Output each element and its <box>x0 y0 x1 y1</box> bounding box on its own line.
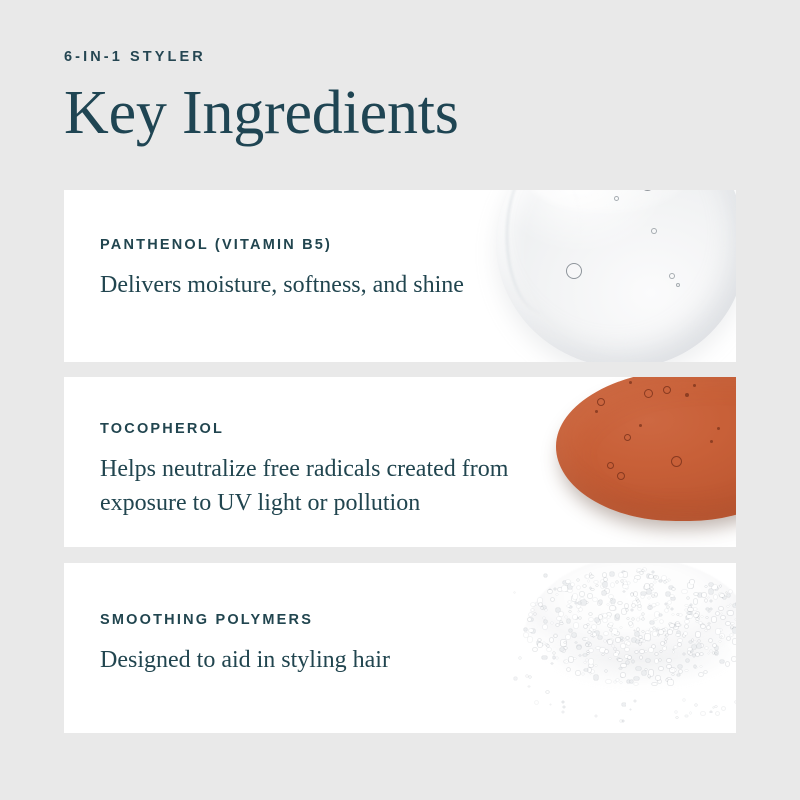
powder-grain <box>547 648 551 651</box>
oil-bubble <box>639 424 642 427</box>
powder-grain <box>604 640 606 642</box>
powder-grain <box>547 645 549 647</box>
powder-grain <box>610 572 614 576</box>
powder-grain <box>634 592 638 596</box>
powder-grain <box>551 598 554 601</box>
powder-grain <box>692 639 694 641</box>
powder-grain <box>589 659 593 664</box>
powder-grain <box>563 706 565 708</box>
powder-grain <box>720 594 724 597</box>
powder-grain <box>716 612 719 615</box>
powder-grain <box>559 612 563 616</box>
powder-grain <box>656 676 660 681</box>
powder-grain <box>577 586 580 589</box>
powder-grain <box>694 593 698 596</box>
powder-grain <box>686 659 689 662</box>
powder-grain <box>584 662 586 663</box>
powder-grain <box>604 578 607 581</box>
powder-grain <box>647 589 651 594</box>
powder-grain <box>701 625 705 628</box>
powder-grain <box>641 592 646 595</box>
powder-grain <box>609 595 613 598</box>
powder-grain <box>562 711 564 713</box>
powder-grain <box>699 622 702 624</box>
powder-grain <box>677 674 680 677</box>
card-text-block: TOCOPHEROL Helps neutralize free radical… <box>100 422 508 520</box>
ingredient-description-line: exposure to UV light or pollution <box>100 486 508 520</box>
powder-grain <box>655 659 658 663</box>
powder-grain <box>595 665 597 666</box>
powder-grain <box>659 630 663 633</box>
powder-grain <box>688 608 692 611</box>
powder-grain <box>652 571 654 573</box>
powder-grain <box>690 712 691 713</box>
ingredient-card-tocopherol: TOCOPHEROL Helps neutralize free radical… <box>64 377 736 547</box>
powder-grain <box>538 598 543 603</box>
powder-grain <box>695 704 697 706</box>
powder-grain <box>579 608 583 611</box>
powder-grain <box>569 657 574 662</box>
powder-grain <box>733 639 737 643</box>
powder-grain <box>567 619 571 623</box>
powder-grain <box>672 588 676 590</box>
powder-grain <box>678 643 681 646</box>
powder-grain <box>588 668 592 672</box>
powder-grain <box>584 625 587 627</box>
powder-grain <box>562 586 567 591</box>
powder-grain <box>696 621 698 622</box>
powder-grain <box>649 575 653 578</box>
powder-grain <box>565 616 567 618</box>
powder-grain <box>663 647 667 650</box>
powder-grain <box>696 632 700 637</box>
powder-grain <box>544 574 547 577</box>
powder-grain <box>726 662 730 665</box>
powder-grain <box>720 660 725 663</box>
powder-grain <box>625 604 628 608</box>
gel-bubble <box>651 228 657 234</box>
powder-grain <box>650 584 652 586</box>
powder-grain <box>685 625 688 628</box>
oil-blob-shape <box>556 377 736 521</box>
powder-grain <box>626 661 629 665</box>
powder-grain <box>551 622 553 624</box>
powder-grain <box>574 623 578 628</box>
powder-grain <box>564 642 566 643</box>
powder-grain <box>645 651 647 652</box>
powder-grain <box>652 595 654 596</box>
powder-grain <box>524 628 528 631</box>
powder-grain <box>560 648 564 651</box>
powder-grain <box>577 646 581 649</box>
powder-grain <box>528 637 532 642</box>
powder-grain <box>577 579 579 581</box>
powder-grain <box>553 652 555 654</box>
powder-grain <box>668 630 672 634</box>
powder-grain <box>715 653 717 654</box>
powder-grain <box>727 594 730 598</box>
powder-grain <box>638 607 641 610</box>
powder-grain <box>727 637 731 641</box>
powder-grain <box>582 673 584 675</box>
powder-grain <box>548 590 552 593</box>
powder-grain <box>634 677 639 680</box>
powder-grain <box>620 627 622 628</box>
powder-grain <box>641 595 644 598</box>
powder-grain <box>556 594 558 596</box>
powder-grain <box>603 614 607 617</box>
powder-grain <box>587 653 589 655</box>
powder-grain <box>590 573 592 574</box>
powder-grain <box>696 653 699 656</box>
powder-grain <box>621 673 624 677</box>
powder-grain <box>698 640 700 642</box>
ingredient-card-smoothing-polymers: SMOOTHING POLYMERS Designed to aid in st… <box>64 563 736 733</box>
powder-grain <box>678 665 682 668</box>
powder-grain <box>716 629 721 634</box>
powder-grain <box>676 624 680 626</box>
powder-grain <box>579 655 581 656</box>
powder-grain <box>606 680 610 684</box>
powder-grain <box>599 600 602 604</box>
powder-grain <box>643 640 645 642</box>
gel-bubble <box>669 273 675 279</box>
powder-grain <box>687 612 691 615</box>
powder-grain <box>623 585 628 588</box>
powder-grain <box>696 618 699 620</box>
powder-grain <box>667 665 672 668</box>
powder-grain <box>543 642 545 644</box>
powder-grain <box>654 581 656 583</box>
powder-grain <box>678 639 682 642</box>
powder-grain <box>557 617 561 621</box>
powder-grain <box>715 706 717 708</box>
powder-grain <box>622 703 626 706</box>
powder-grain <box>655 593 658 596</box>
powder-grain <box>589 613 592 615</box>
powder-grain <box>526 675 528 677</box>
powder-grain <box>631 593 634 596</box>
powder-grain <box>616 614 620 618</box>
powder-grain <box>688 651 691 654</box>
powder-grain <box>634 700 636 702</box>
powder-grain <box>573 615 577 619</box>
gel-bubble <box>614 196 619 201</box>
powder-grain <box>664 581 666 583</box>
powder-grain <box>690 580 694 584</box>
powder-grain <box>646 659 650 662</box>
powder-grain <box>588 594 592 599</box>
powder-grain <box>655 653 658 656</box>
powder-grain <box>699 673 703 676</box>
powder-grain <box>514 677 518 680</box>
ingredient-description: Delivers moisture, softness, and shine <box>100 268 464 302</box>
powder-grain <box>636 667 641 670</box>
powder-grain <box>721 616 725 619</box>
powder-grain <box>616 638 620 642</box>
powder-grain <box>604 632 608 635</box>
powder-grain <box>622 720 625 723</box>
page-title: Key Ingredients <box>64 81 664 146</box>
powder-grain <box>626 588 628 589</box>
powder-grain <box>650 621 654 624</box>
powder-grain <box>603 582 607 587</box>
powder-grain <box>670 624 674 627</box>
powder-grain <box>566 635 570 638</box>
powder-grain <box>648 675 651 677</box>
powder-grain <box>594 675 598 680</box>
powder-grain <box>637 600 639 601</box>
powder-grain <box>714 595 718 599</box>
orange-oil-droplet-icon <box>556 377 736 521</box>
powder-grain <box>514 592 516 594</box>
powder-grain <box>625 648 629 651</box>
powder-grain <box>581 600 586 605</box>
powder-grain <box>592 625 596 629</box>
powder-grain <box>614 648 616 650</box>
oil-bubble <box>693 384 696 387</box>
powder-grain <box>578 602 581 604</box>
powder-grain <box>721 636 723 637</box>
powder-grain <box>568 601 571 604</box>
powder-grain <box>710 711 712 712</box>
powder-grain <box>634 683 638 686</box>
powder-grain <box>659 667 663 670</box>
powder-grain <box>589 649 593 652</box>
powder-grain <box>605 670 607 672</box>
powder-grain <box>541 607 543 609</box>
powder-grain <box>639 643 642 645</box>
powder-grain <box>713 644 717 647</box>
powder-grain <box>603 619 607 622</box>
powder-grain <box>528 618 532 621</box>
powder-grain <box>674 646 677 649</box>
powder-grain <box>621 580 623 582</box>
powder-grain <box>616 581 618 583</box>
powder-grain <box>656 603 660 605</box>
powder-grain <box>665 609 669 612</box>
powder-grain <box>630 709 632 711</box>
powder-grain <box>529 676 531 678</box>
powder-grain <box>719 607 723 610</box>
powder-grain <box>705 630 707 631</box>
powder-grain <box>598 636 602 640</box>
powder-grain <box>712 585 716 589</box>
powder-grain <box>593 598 597 601</box>
powder-grain <box>632 660 634 663</box>
powder-grain <box>584 669 588 672</box>
powder-grain <box>632 604 635 607</box>
powder-grain <box>627 642 630 645</box>
powder-grain <box>716 712 720 715</box>
powder-grain <box>722 707 726 710</box>
oil-bubble <box>644 389 653 398</box>
powder-grain <box>609 623 612 625</box>
powder-grain <box>735 701 736 703</box>
powder-grain <box>560 623 563 625</box>
powder-grain <box>588 580 590 582</box>
powder-grain <box>683 699 685 701</box>
powder-grain <box>589 664 593 668</box>
powder-grain <box>709 583 713 586</box>
powder-grain <box>687 615 691 619</box>
powder-grain <box>519 657 521 659</box>
powder-grain <box>640 650 644 653</box>
powder-grain <box>637 618 639 621</box>
powder-grain <box>676 717 678 718</box>
powder-grain <box>728 611 732 615</box>
powder-grain <box>545 609 547 611</box>
powder-grain <box>602 591 605 595</box>
powder-grain <box>652 683 657 686</box>
powder-grain <box>665 638 667 640</box>
powder-grain <box>645 669 647 670</box>
ingredient-description: Helps neutralize free radicals created f… <box>100 452 508 520</box>
powder-grain <box>542 656 546 659</box>
gel-bubble <box>676 283 680 287</box>
powder-grain <box>676 634 679 636</box>
powder-grain <box>667 659 671 663</box>
powder-grain <box>627 582 630 584</box>
powder-grain <box>694 641 696 643</box>
powder-grain <box>679 614 681 616</box>
powder-grain <box>576 671 580 675</box>
powder-grain <box>708 623 710 624</box>
powder-grain <box>645 634 649 639</box>
powder-grain <box>567 668 570 670</box>
powder-grain <box>685 670 687 672</box>
powder-grain <box>634 579 637 582</box>
ingredient-card-panthenol: PANTHENOL (VITAMIN B5) Delivers moisture… <box>64 190 736 362</box>
powder-grain <box>685 715 688 717</box>
ingredient-description: Designed to aid in styling hair <box>100 643 390 677</box>
powder-grain <box>544 620 547 623</box>
powder-grain <box>528 686 530 687</box>
powder-grain <box>572 633 576 637</box>
ingredient-name: SMOOTHING POLYMERS <box>100 613 390 628</box>
powder-grain <box>546 691 549 694</box>
powder-grain <box>551 663 553 664</box>
powder-grain <box>621 664 625 668</box>
powder-grain <box>679 670 682 673</box>
powder-grain <box>708 611 710 613</box>
powder-grain <box>685 620 689 623</box>
ingredient-name: TOCOPHEROL <box>100 422 508 437</box>
powder-grain <box>675 711 678 713</box>
powder-grain <box>531 609 534 611</box>
white-powder-pile-icon <box>472 563 736 733</box>
oil-bubble <box>607 462 614 469</box>
powder-grain <box>580 592 584 596</box>
powder-grain <box>595 715 598 717</box>
ingredient-name: PANTHENOL (VITAMIN B5) <box>100 238 464 253</box>
powder-grain <box>635 632 639 636</box>
powder-grain <box>700 653 703 655</box>
powder-grain <box>682 590 686 593</box>
powder-grain <box>562 701 564 703</box>
powder-grain <box>635 651 638 653</box>
powder-grain <box>609 658 611 659</box>
powder-grain <box>529 613 532 616</box>
powder-grain <box>585 638 587 640</box>
powder-grain <box>649 648 653 652</box>
oil-bubble <box>671 456 682 467</box>
powder-grain <box>586 575 589 578</box>
powder-grain <box>733 628 736 633</box>
powder-grain <box>589 618 593 621</box>
powder-grain <box>538 643 542 647</box>
powder-grain <box>619 668 622 670</box>
powder-grain <box>564 661 566 662</box>
powder-grain <box>697 644 701 648</box>
powder-grain <box>543 625 548 630</box>
card-text-block: PANTHENOL (VITAMIN B5) Delivers moisture… <box>100 238 464 302</box>
powder-grain <box>660 620 663 623</box>
card-text-block: SMOOTHING POLYMERS Designed to aid in st… <box>100 613 390 677</box>
powder-grain <box>550 704 552 705</box>
powder-grain <box>694 599 698 604</box>
powder-grain <box>668 601 671 604</box>
powder-grain <box>611 583 615 587</box>
powder-grain <box>726 622 730 625</box>
powder-grain <box>712 617 716 622</box>
powder-grain <box>583 654 587 657</box>
powder-grain <box>640 656 642 659</box>
oil-bubble <box>717 427 720 430</box>
powder-grain <box>623 572 628 577</box>
powder-grain <box>689 641 691 643</box>
powder-grain <box>729 590 732 593</box>
powder-grain <box>668 680 673 685</box>
page-header: 6-IN-1 STYLER Key Ingredients <box>64 50 664 146</box>
powder-grain <box>595 618 599 621</box>
powder-grain <box>692 645 696 649</box>
powder-grain <box>653 627 655 629</box>
powder-grain <box>709 589 713 593</box>
powder-grain <box>577 605 580 608</box>
powder-grain <box>610 606 615 611</box>
powder-grain <box>702 593 706 597</box>
powder-grain <box>661 642 664 645</box>
clear-gel-droplet-icon <box>496 190 736 362</box>
powder-grain <box>529 629 532 632</box>
powder-grain <box>660 651 662 652</box>
powder-grain <box>645 584 649 589</box>
powder-grain <box>599 615 603 619</box>
powder-grain <box>619 573 623 577</box>
powder-grain <box>701 712 705 715</box>
powder-grain <box>605 650 609 654</box>
key-ingredients-page: 6-IN-1 STYLER Key Ingredients PANTHENOL … <box>0 0 800 800</box>
powder-grain <box>732 657 736 661</box>
powder-grain <box>531 603 536 606</box>
powder-grain <box>542 644 544 646</box>
powder-grain <box>687 597 689 599</box>
powder-grain <box>550 638 554 642</box>
powder-grain <box>713 707 714 708</box>
powder-grain <box>706 617 708 618</box>
powder-grain <box>642 671 646 675</box>
powder-grain <box>683 653 685 654</box>
powder-grain <box>535 701 538 704</box>
powder-grain <box>653 632 657 636</box>
powder-grain <box>608 640 612 644</box>
ingredient-description-line: Helps neutralize free radicals created f… <box>100 452 508 486</box>
eyebrow-label: 6-IN-1 STYLER <box>64 50 664 65</box>
powder-grain <box>591 670 594 673</box>
gel-bubble <box>566 263 582 279</box>
